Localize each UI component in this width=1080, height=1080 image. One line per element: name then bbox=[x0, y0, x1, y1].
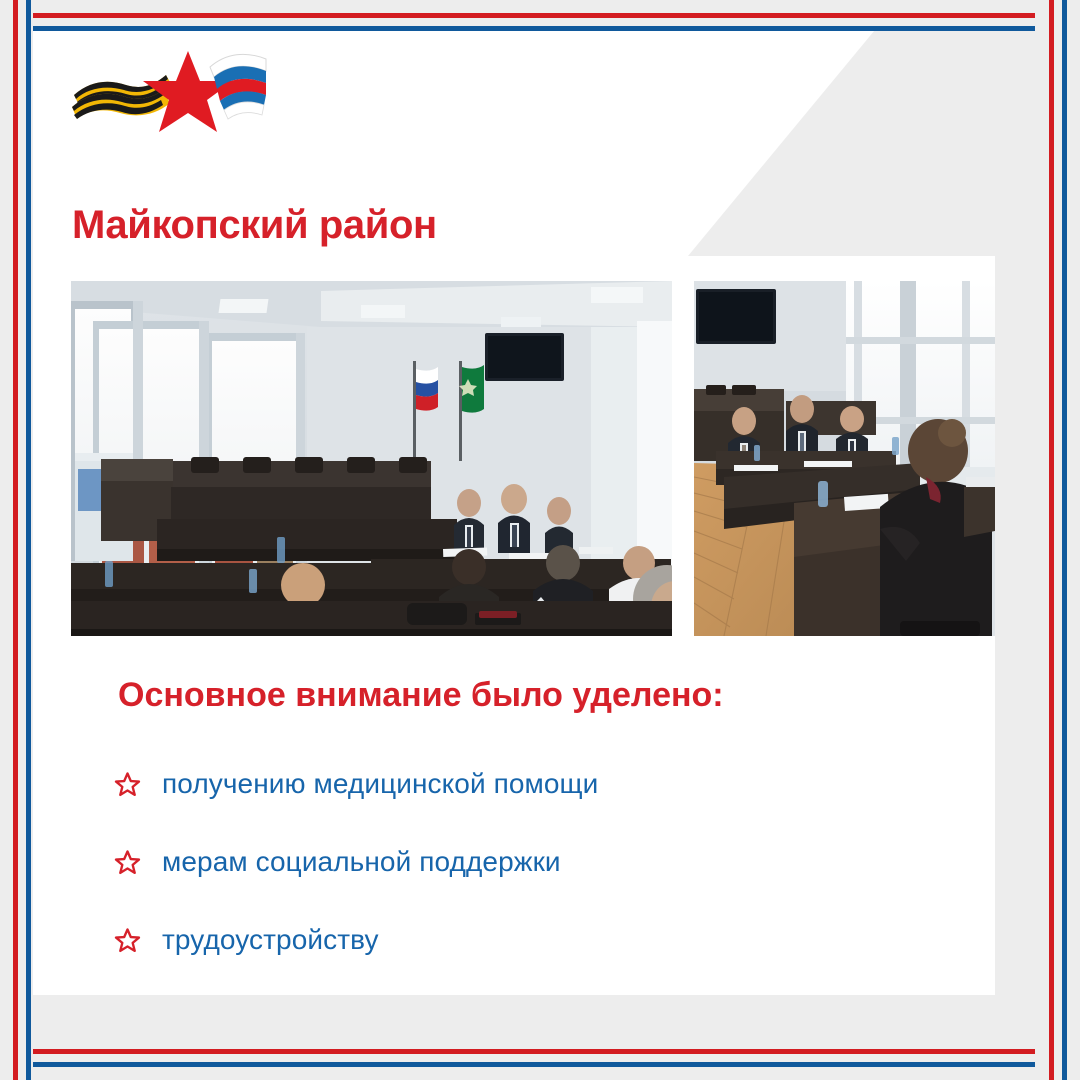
list-item-label: трудоустройству bbox=[162, 924, 379, 956]
frame-line-bottom-red bbox=[33, 1049, 1035, 1054]
list-item: получению медицинской помощи bbox=[114, 745, 934, 823]
star-icon bbox=[114, 927, 162, 954]
list-item: мерам социальной поддержки bbox=[114, 823, 934, 901]
russian-flag-icon bbox=[210, 54, 266, 119]
frame-line-right-blue bbox=[1062, 0, 1067, 1080]
photo-meeting-hall-wide bbox=[71, 281, 672, 636]
frame-line-top-blue bbox=[33, 26, 1035, 31]
frame-line-right-red bbox=[1049, 0, 1054, 1080]
star-icon bbox=[114, 849, 162, 876]
list-item: трудоустройству bbox=[114, 901, 934, 979]
frame-line-left-red bbox=[13, 0, 18, 1080]
diagonal-wedge-bottom-left bbox=[160, 996, 1080, 1080]
frame-line-top-red bbox=[33, 13, 1035, 18]
focus-areas-list: получению медицинской помощи мерам социа… bbox=[114, 745, 934, 979]
frame-line-left-blue bbox=[26, 0, 31, 1080]
photo-meeting-table-closeup bbox=[694, 281, 995, 636]
page-title: Майкопский район bbox=[72, 203, 437, 248]
attention-heading: Основное внимание было уделено: bbox=[118, 676, 724, 715]
list-item-label: мерам социальной поддержки bbox=[162, 846, 561, 878]
organization-logo bbox=[70, 45, 330, 165]
star-icon bbox=[114, 771, 162, 798]
frame-line-bottom-blue bbox=[33, 1062, 1035, 1067]
list-item-label: получению медицинской помощи bbox=[162, 768, 598, 800]
